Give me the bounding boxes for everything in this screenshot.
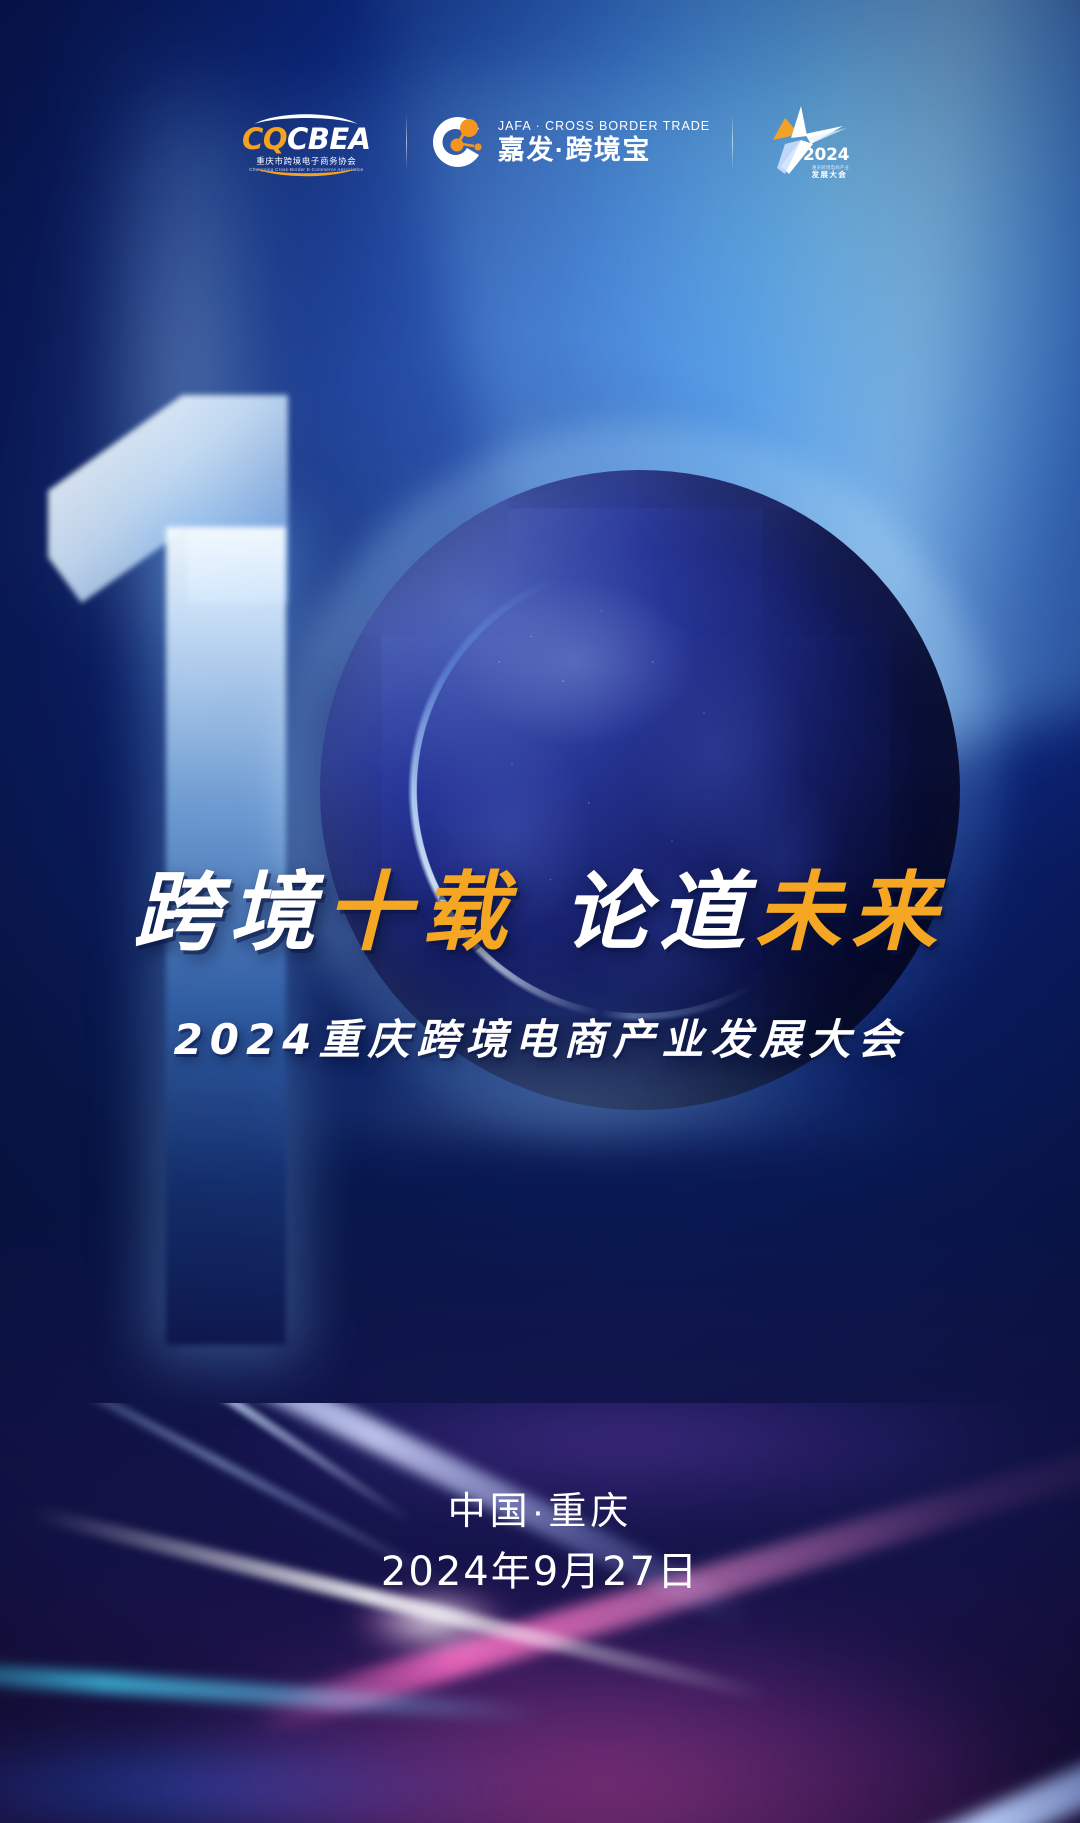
jafa-text-block: JAFA · CROSS BORDER TRADE 嘉发·跨境宝 [498, 120, 710, 165]
logo-cell-expo[interactable]: 2024 重庆跨境电商产业 发展大会 [755, 104, 851, 180]
event-date: 2024年9月27日 [0, 1548, 1080, 1596]
cqcbea-swoosh-bottom-icon [229, 167, 384, 179]
cqcbea-wordmark-cbea: CBEA [287, 122, 371, 156]
event-place: 中国·重庆 [0, 1487, 1080, 1538]
logo-cell-jafa[interactable]: JAFA · CROSS BORDER TRADE 嘉发·跨境宝 [429, 113, 710, 171]
headline-segment-1: 跨境 [133, 863, 325, 963]
expo-bird-logo[interactable]: 2024 重庆跨境电商产业 发展大会 [755, 104, 851, 180]
hero-headline: 跨境十载论道未来 [0, 868, 1080, 958]
headline-segment-2: 十载 [325, 863, 517, 963]
footer-info: 中国·重庆 2024年9月27日 [0, 1487, 1080, 1596]
cqcbea-swoosh-top-icon [229, 112, 384, 126]
headline-segment-3: 论道 [563, 863, 755, 963]
cqcbea-chinese-name: 重庆市跨境电子商务协会 [229, 157, 384, 167]
cqcbea-wordmark: CQCBEA [229, 125, 384, 154]
logo-divider-1 [406, 116, 407, 168]
expo-chinese-name: 发展大会 [812, 169, 848, 180]
jafa-english-name: JAFA · CROSS BORDER TRADE [498, 120, 710, 133]
logo-cell-cqcbea[interactable]: CQCBEA 重庆市跨境电子商务协会 Chongqing Cross-Borde… [229, 112, 384, 172]
cqcbea-logo[interactable]: CQCBEA 重庆市跨境电子商务协会 Chongqing Cross-Borde… [229, 112, 384, 172]
cqcbea-wordmark-cq: CQ [242, 122, 287, 156]
header-logo-bar: CQCBEA 重庆市跨境电子商务协会 Chongqing Cross-Borde… [0, 96, 1080, 188]
conference-poster: CQCBEA 重庆市跨境电子商务协会 Chongqing Cross-Borde… [0, 0, 1080, 1823]
jafa-chinese-name: 嘉发·跨境宝 [498, 137, 710, 164]
jafa-kuajingbao-logo[interactable]: JAFA · CROSS BORDER TRADE 嘉发·跨境宝 [429, 113, 710, 171]
headline-segment-4: 未来 [755, 863, 947, 963]
expo-year: 2024 [803, 147, 849, 164]
logo-divider-2 [732, 116, 733, 168]
jafa-molecule-icon [429, 113, 487, 171]
hero-subtitle: 2024重庆跨境电商产业发展大会 [0, 1006, 1080, 1067]
